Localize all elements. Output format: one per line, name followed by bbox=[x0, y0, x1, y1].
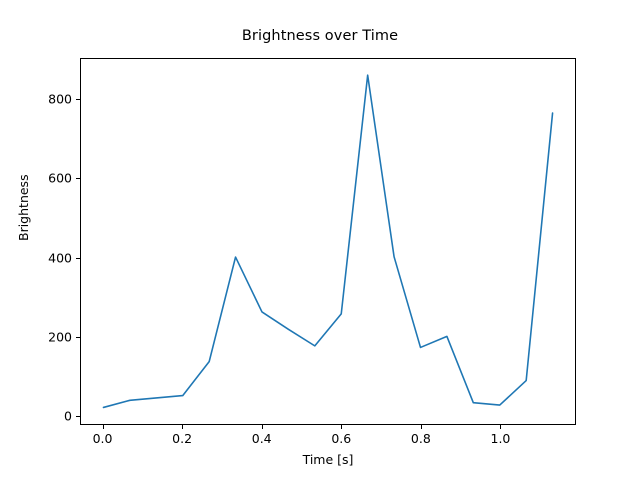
x-tick-label: 0.8 bbox=[411, 431, 431, 446]
x-tick-label: 0.2 bbox=[172, 431, 192, 446]
x-tick-mark bbox=[262, 425, 263, 429]
x-tick-mark bbox=[103, 425, 104, 429]
x-axis-label: Time [s] bbox=[80, 452, 576, 467]
y-tick-label: 600 bbox=[28, 171, 72, 186]
y-tick-label: 800 bbox=[28, 91, 72, 106]
x-tick-label: 0.6 bbox=[331, 431, 351, 446]
chart-title: Brightness over Time bbox=[0, 28, 640, 44]
brightness-line-series bbox=[103, 75, 552, 407]
x-tick-label: 1.0 bbox=[490, 431, 510, 446]
plot-area bbox=[80, 58, 576, 425]
x-tick-mark bbox=[500, 425, 501, 429]
x-tick-label: 0.4 bbox=[252, 431, 272, 446]
figure: Brightness over Time Brightness Time [s]… bbox=[0, 0, 640, 480]
x-tick-mark bbox=[341, 425, 342, 429]
x-tick-mark bbox=[421, 425, 422, 429]
y-tick-label: 400 bbox=[28, 250, 72, 265]
y-tick-label: 200 bbox=[28, 329, 72, 344]
data-line-svg bbox=[81, 59, 575, 424]
y-tick-label: 0 bbox=[28, 409, 72, 424]
x-tick-label: 0.0 bbox=[93, 431, 113, 446]
x-tick-mark bbox=[182, 425, 183, 429]
